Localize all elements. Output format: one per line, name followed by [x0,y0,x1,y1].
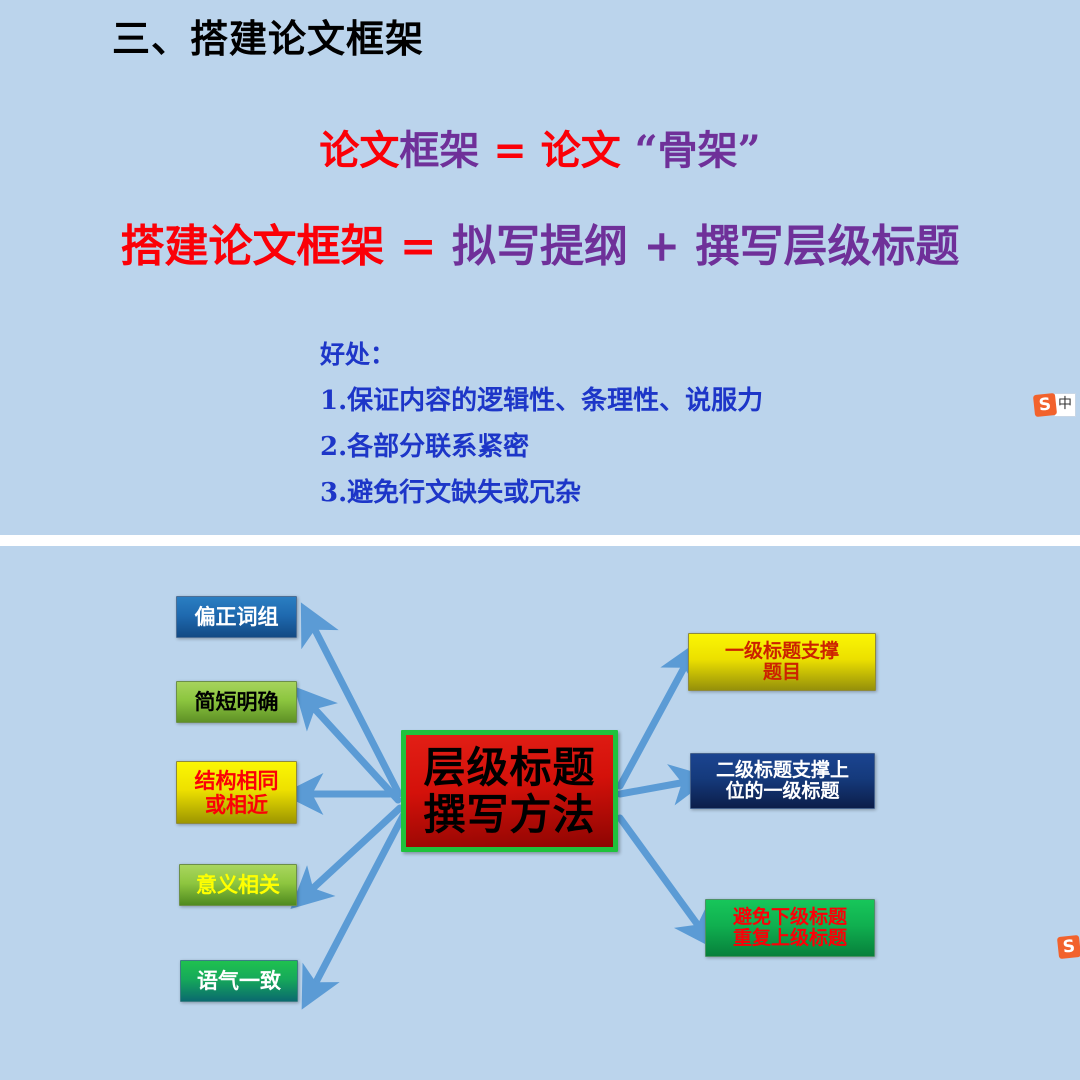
center-node-line-1: 层级标题 [423,744,595,791]
eq2-segment-1: 搭建论文框架 = [120,221,452,272]
node-jian-duan-ming-que[interactable]: 简短明确 [176,681,297,723]
arrow-to-避免下级标题重复上级标题 [620,818,700,928]
eq1-segment-4: 论文 [541,127,635,174]
eq2-segment-2: 拟写提纲 + 撰写层级标题 [452,221,960,272]
node-r3-label-line-2: 重复上级标题 [733,928,847,949]
equation-line-2: 搭建论文框架 = 拟写提纲 + 撰写层级标题 [0,210,1080,274]
node-l2-label: 简短明确 [195,690,279,714]
node-yi-ji-biao-ti-zhi-cheng-ti-mu[interactable]: 一级标题支撑 题目 [688,633,876,691]
node-jie-gou-xiang-tong[interactable]: 结构相同 或相近 [176,761,297,824]
node-l5-label: 语气一致 [197,969,281,993]
node-r2-label-line-2: 位的一级标题 [716,781,849,802]
node-yu-qi-yi-zhi[interactable]: 语气一致 [180,960,298,1002]
benefits-item-3: 3.避免行文缺失或冗杂 [320,470,880,516]
center-node-line-2: 撰写方法 [423,791,595,838]
eq1-segment-3: = [479,127,540,174]
eq1-segment-5: “骨架” [635,127,761,174]
node-l3-label-line-1: 结构相同 [195,769,279,793]
node-er-ji-biao-ti-zhi-cheng[interactable]: 二级标题支撑上 位的一级标题 [690,753,875,809]
page-title: 三、搭建论文框架 [112,8,424,63]
benefits-block: 好处： 1.保证内容的逻辑性、条理性、说服力 2.各部分联系紧密 3.避免行文缺… [320,332,880,516]
sogou-s-icon: S [1033,393,1057,417]
arrow-to-二级标题支撑上位的一级标题 [620,782,686,794]
benefits-heading: 好处： [320,332,880,378]
node-pian-zheng-ci-zu[interactable]: 偏正词组 [176,596,297,638]
node-bi-mian-xia-ji-biao-ti[interactable]: 避免下级标题 重复上级标题 [705,899,875,957]
benefits-item-1: 1.保证内容的逻辑性、条理性、说服力 [320,378,880,424]
node-r2-label-line-1: 二级标题支撑上 [716,760,849,781]
node-r1-label-line-2: 题目 [725,662,839,683]
benefits-item-2: 2.各部分联系紧密 [320,424,880,470]
arrow-to-偏正词组 [313,626,399,794]
sogou-s-icon-bottom: S [1057,935,1080,959]
arrow-to-简短明确 [312,706,398,800]
center-node[interactable]: 层级标题 撰写方法 [401,730,618,852]
eq1-segment-2: 框架 [399,127,479,174]
arrow-to-一级标题支撑题目 [620,664,686,786]
arrow-to-语气一致 [314,814,404,986]
node-yi-yi-xiang-guan[interactable]: 意义相关 [179,864,297,906]
equation-line-1: 论文框架 = 论文 “骨架” [0,118,1080,176]
node-r3-label-line-1: 避免下级标题 [733,907,847,928]
node-l4-label: 意义相关 [196,873,280,897]
node-l3-label-line-2: 或相近 [195,793,279,817]
slide-canvas: 三、搭建论文框架 论文框架 = 论文 “骨架” 搭建论文框架 = 拟写提纲 + … [0,0,1080,1080]
sogou-ime-mode-label: 中 [1054,393,1076,417]
node-r1-label-line-1: 一级标题支撑 [725,641,839,662]
section-divider [0,535,1080,546]
sogou-ime-badge-bottom: S [1058,936,1080,958]
eq1-segment-1: 论文 [319,127,399,174]
sogou-ime-badge-top: S 中 [1034,394,1076,416]
mind-map-diagram: 层级标题 撰写方法 偏正词组 简短明确 结构相同 或相近 意义相关 语气一致 一… [0,546,1080,1080]
node-l1-label: 偏正词组 [195,605,279,629]
